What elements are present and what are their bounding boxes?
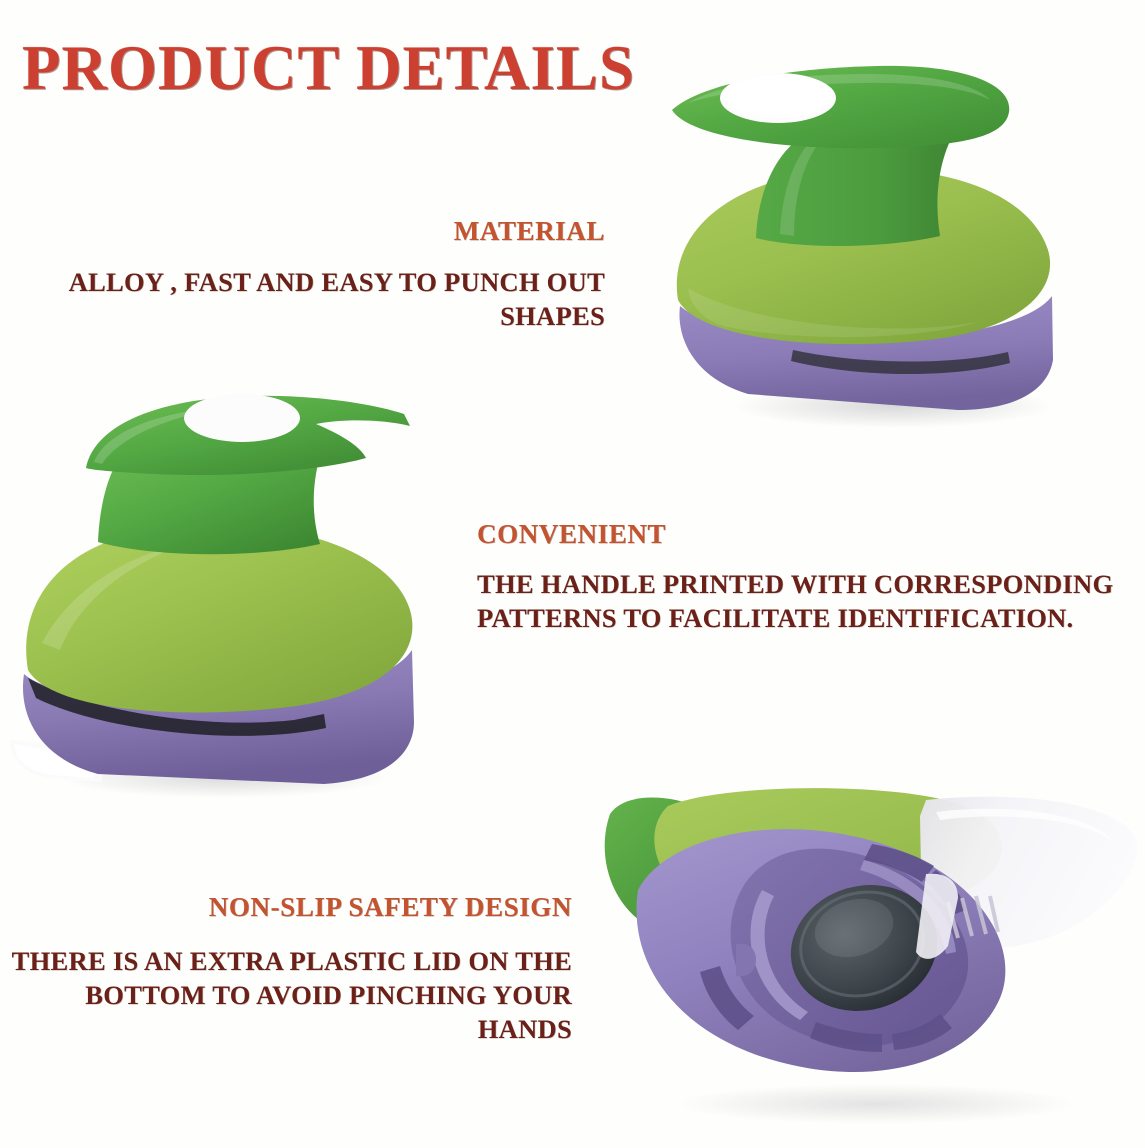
feature-body-material: ALLOY , FAST AND EASY TO PUNCH OUT SHAPE… bbox=[0, 266, 605, 334]
craft-punch-three-quarter-view bbox=[628, 38, 1138, 438]
product-details-page: PRODUCT DETAILS bbox=[0, 0, 1145, 1148]
handle-sticker bbox=[184, 394, 300, 442]
feature-heading-convenient: CONVENIENT bbox=[477, 519, 666, 550]
feature-body-convenient: THE HANDLE PRINTED WITH CORRESPONDING PA… bbox=[477, 568, 1117, 636]
feature-heading-nonslip: NON-SLIP SAFETY DESIGN bbox=[0, 892, 572, 923]
feature-body-nonslip: THERE IS AN EXTRA PLASTIC LID ON THE BOT… bbox=[0, 945, 572, 1047]
feature-heading-material: MATERIAL bbox=[0, 216, 605, 247]
craft-punch-bottom-view bbox=[596, 786, 1145, 1126]
craft-punch-side-view bbox=[0, 378, 454, 798]
page-title: PRODUCT DETAILS bbox=[22, 32, 635, 105]
